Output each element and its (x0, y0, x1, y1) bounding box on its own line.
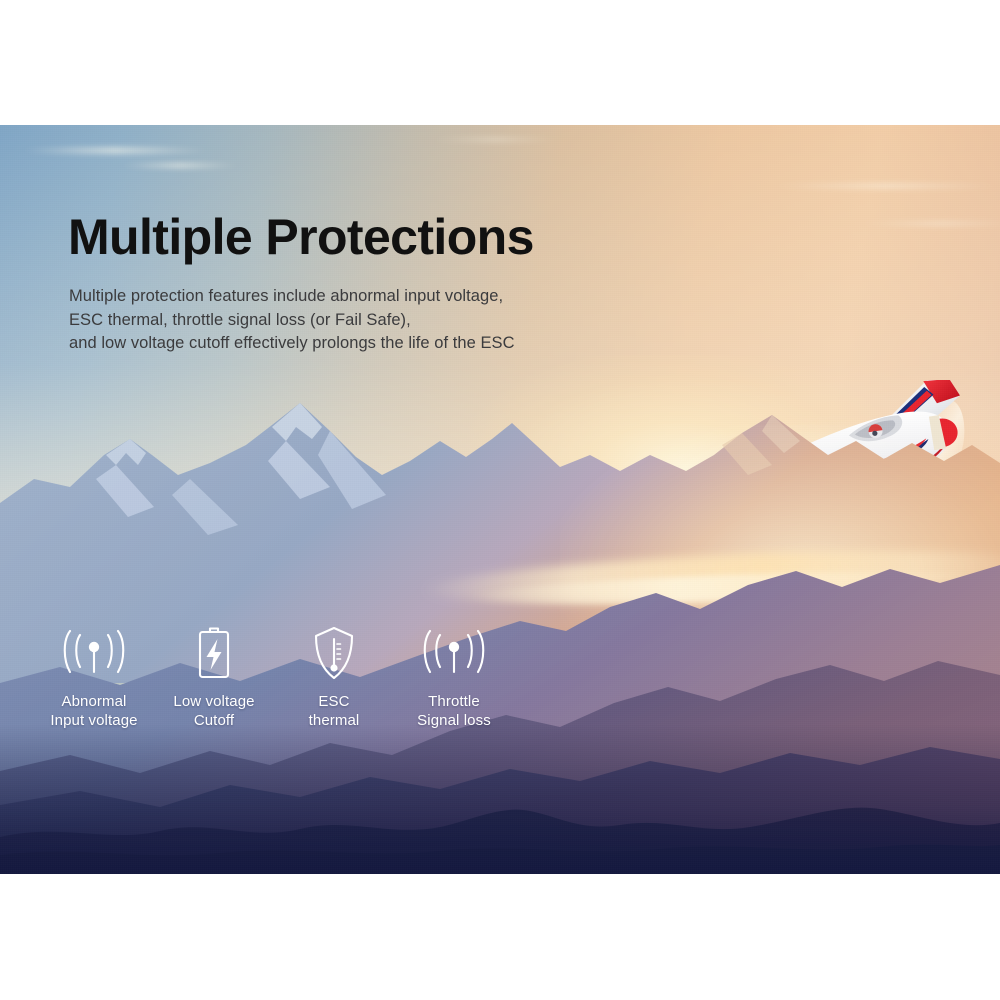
shield-thermometer-icon (310, 625, 358, 681)
signal-antenna-icon (421, 625, 487, 681)
feature-label-line2: Cutoff (194, 712, 234, 729)
cloud-streak (770, 183, 1000, 189)
feature-label-line1: Throttle (428, 693, 480, 710)
cloud-streak (430, 137, 560, 142)
cloud-streak (120, 163, 240, 168)
feature-label-line1: ESC (318, 693, 349, 710)
feature-icon-row: Abnormal Input voltage Low voltage Cutof… (34, 625, 514, 730)
feature-label-line2: thermal (309, 712, 360, 729)
feature-item-throttle-signal-loss[interactable]: Throttle Signal loss (394, 625, 514, 730)
page-subtitle: Multiple protection features include abn… (69, 285, 515, 356)
feature-label-line1: Low voltage (173, 693, 254, 710)
hero-banner: Multiple Protections Multiple protection… (0, 125, 1000, 874)
battery-bolt-icon (192, 625, 236, 681)
feature-label-line2: Input voltage (50, 712, 137, 729)
feature-item-abnormal-input-voltage[interactable]: Abnormal Input voltage (34, 625, 154, 730)
poster-page: Multiple Protections Multiple protection… (0, 0, 1000, 1000)
bottom-vignette (0, 724, 1000, 874)
signal-antenna-icon (61, 625, 127, 681)
page-title: Multiple Protections (68, 208, 534, 266)
feature-item-low-voltage-cutoff[interactable]: Low voltage Cutoff (154, 625, 274, 730)
cloud-streak (20, 147, 210, 154)
feature-item-esc-thermal[interactable]: ESC thermal (274, 625, 394, 730)
feature-label-line1: Abnormal (61, 693, 126, 710)
feature-label-line2: Signal loss (417, 712, 491, 729)
